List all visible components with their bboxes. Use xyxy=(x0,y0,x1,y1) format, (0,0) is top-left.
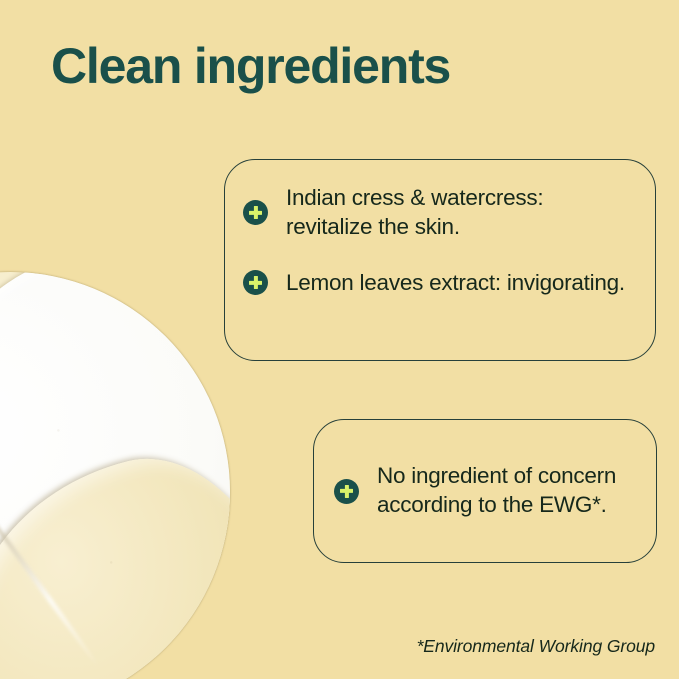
list-item: Lemon leaves extract: invigorating. xyxy=(243,269,629,298)
infographic-canvas: Clean ingredients Indian cress & watercr… xyxy=(0,0,679,679)
plus-circle-icon xyxy=(243,200,268,225)
list-item-label: Indian cress & watercress: revitalize th… xyxy=(286,184,629,242)
plus-circle-icon xyxy=(334,479,359,504)
page-title: Clean ingredients xyxy=(51,37,450,95)
list-item-label: Lemon leaves extract: invigorating. xyxy=(286,269,625,298)
footnote-text: *Environmental Working Group xyxy=(417,636,655,657)
list-item: No ingredient of concern according to th… xyxy=(334,438,632,544)
ingredients-card: Indian cress & watercress: revitalize th… xyxy=(224,159,656,361)
list-item: Indian cress & watercress: revitalize th… xyxy=(243,184,629,242)
ewg-claim-card: No ingredient of concern according to th… xyxy=(313,419,657,563)
plus-circle-icon xyxy=(243,270,268,295)
list-item-label: No ingredient of concern according to th… xyxy=(377,462,632,520)
product-gel-texture-photo xyxy=(0,272,230,679)
